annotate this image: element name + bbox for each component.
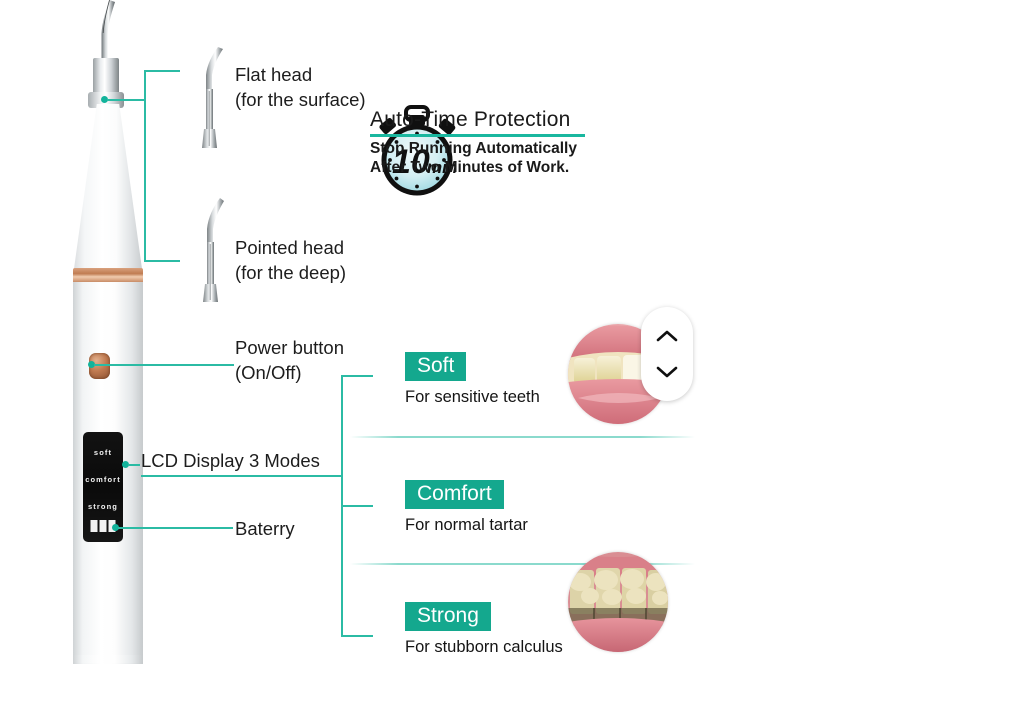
flat-head-illustration (196, 45, 230, 150)
connector-battery (118, 527, 233, 529)
battery-bar (91, 520, 98, 532)
mode-photo-comfort (568, 552, 668, 652)
mode-description-soft: For sensitive teeth (405, 388, 540, 407)
callout-flat-head-line2: (for the surface) (235, 87, 366, 112)
auto-time-protection-block: Auto-Time Protection Stop Running Automa… (370, 108, 700, 198)
lcd-mode-strong: strong (83, 502, 123, 511)
auto-time-underline (370, 134, 585, 137)
mode-divider-1 (350, 436, 695, 438)
mode-row-strong: Strong For stubborn calculus (405, 602, 563, 657)
battery-bar (100, 520, 107, 532)
callout-power-button-line2: (On/Off) (235, 360, 344, 385)
mode-badge-comfort: Comfort (405, 480, 504, 509)
connector-pointed-head (144, 260, 180, 262)
callout-battery: Baterry (235, 516, 295, 541)
callout-flat-head: Flat head (for the surface) (235, 62, 366, 112)
mode-badge-soft: Soft (405, 352, 466, 381)
connector-flat-head (144, 70, 180, 72)
lcd-mode-soft: soft (83, 448, 123, 457)
device-illustration: soft comfort strong (55, 0, 175, 700)
scroll-control[interactable] (641, 307, 693, 401)
callout-power-button: Power button (On/Off) (235, 335, 344, 385)
mode-badge-strong: Strong (405, 602, 491, 631)
connector-lcd-left (128, 464, 140, 466)
callout-pointed-head-line1: Pointed head (235, 235, 346, 260)
device-cone (73, 104, 143, 276)
auto-time-subtitle-line2: After Two Minutes of Work. (370, 159, 700, 178)
connector-lcd-right (141, 475, 341, 477)
chevron-up-icon[interactable] (656, 329, 678, 342)
mode-bracket-to-comfort (341, 505, 373, 507)
callout-lcd-display: LCD Display 3 Modes (141, 448, 320, 473)
chevron-down-icon[interactable] (656, 366, 678, 379)
auto-time-title: Auto-Time Protection (370, 108, 700, 132)
device-base-highlight (73, 655, 143, 663)
connector-tip-horizontal (107, 99, 145, 101)
callout-power-button-line1: Power button (235, 335, 344, 360)
callout-flat-head-line1: Flat head (235, 62, 366, 87)
mode-description-strong: For stubborn calculus (405, 638, 563, 657)
callout-battery-line1: Baterry (235, 516, 295, 541)
mode-description-comfort: For normal tartar (405, 516, 528, 535)
connector-power-button (94, 364, 234, 366)
callout-pointed-head: Pointed head (for the deep) (235, 235, 346, 285)
mode-bracket-to-soft (341, 375, 373, 377)
mode-row-soft: Soft For sensitive teeth (405, 352, 540, 407)
scaler-tip-metal (95, 0, 117, 66)
lcd-mode-comfort: comfort (83, 475, 123, 484)
pointed-head-illustration (196, 196, 230, 304)
connector-tip-bracket-vertical (144, 70, 146, 262)
callout-pointed-head-line2: (for the deep) (235, 260, 346, 285)
infographic-canvas: soft comfort strong (0, 0, 1024, 712)
mode-bracket-to-strong (341, 635, 373, 637)
callout-lcd-display-line1: LCD Display 3 Modes (141, 448, 320, 473)
mode-row-comfort: Comfort For normal tartar (405, 480, 528, 535)
auto-time-subtitle-line1: Stop Running Automatically (370, 140, 700, 159)
